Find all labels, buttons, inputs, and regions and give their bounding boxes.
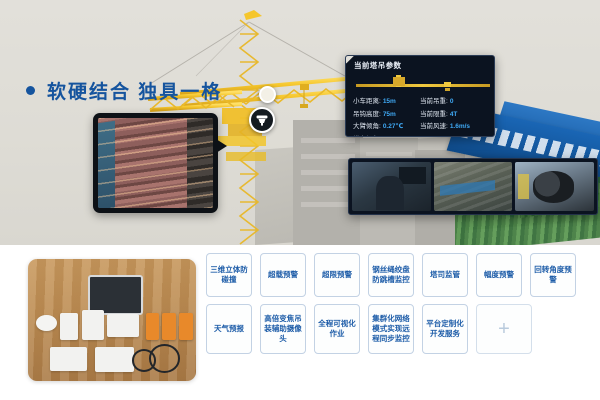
param-value: 4T [450,111,458,118]
param-label: 当前吊重: [420,95,448,105]
slide-root: 软硬结合 独具一格 当前塔吊参数 小车距离: 15m [0,0,600,400]
param-rows: 小车距离: 15m 当前吊重: 0 吊钩高度: 75m 当前限重: 4T 大臂倾… [346,95,494,137]
tag-3d-anticollision[interactable]: 三维立体防碰撞 [206,253,252,297]
crane-parameter-panel: 当前塔吊参数 小车距离: 15m 当前吊重: 0 吊钩高度: 75m [345,55,495,137]
aerial-image [98,118,213,208]
param-label: 大臂倾角: [353,120,381,130]
cctv-camera-icon [256,115,268,126]
site-aerial-screenshot[interactable] [93,113,218,213]
sensor-clamp-2 [162,313,175,340]
tag-cluster-remote-monitor[interactable]: 集群化网络模式实现远程同步监控 [368,304,414,354]
tag-overload-alarm[interactable]: 超载预警 [260,253,306,297]
param-row: 小车距离: 15m [353,95,420,105]
tag-weather-forecast[interactable]: 天气预报 [206,304,252,354]
param-row: 塔身倾角: 62.12℃ [353,133,420,138]
param-value: 0.27℃ [383,122,404,130]
tag-add-more-icon[interactable]: + [476,304,532,354]
feature-tag-row-2: 天气预报 高倍变焦吊装辅助摄像头 全程可视化作业 集群化网络模式实现远程同步监控… [206,304,596,354]
param-label: 吊钩高度: [353,108,381,118]
tag-full-visual-operation[interactable]: 全程可视化作业 [314,304,360,354]
device-box-3 [50,347,87,371]
tag-operator-supervision[interactable]: 塔司监管 [422,253,468,297]
device-box-1 [60,313,78,340]
param-value: 15m [383,98,396,105]
feed-aerial-site[interactable] [434,162,513,211]
device-box-4 [95,347,134,373]
param-value: 0 [450,98,454,105]
param-row: 大臂倾角: 0.27℃ [353,120,420,130]
tag-wirerope-winch-monitor[interactable]: 钢丝绳绞盘防跳槽监控 [368,253,414,297]
headline-text: 软硬结合 独具一格 [47,77,222,104]
param-value: 75m [383,111,396,118]
hardware-kit-photo [28,259,196,381]
crane-schematic-icon [352,74,488,94]
tag-overlimit-alarm[interactable]: 超限预警 [314,253,360,297]
tag-radius-alarm[interactable]: 幅度预警 [476,253,522,297]
section-bottom: 三维立体防碰撞 超载预警 超限预警 钢丝绳绞盘防跳槽监控 塔司监管 幅度预警 回… [0,245,600,400]
device-box-2 [82,310,104,339]
bullet-dot-icon [26,86,35,95]
param-label: 小车距离: [353,95,381,105]
feature-tag-row-1: 三维立体防碰撞 超载预警 超限预警 钢丝绳绞盘防跳槽监控 塔司监管 幅度预警 回… [206,253,596,297]
tag-zoom-camera[interactable]: 高倍变焦吊装辅助摄像头 [260,304,306,354]
camera-feed-strip [348,158,598,215]
headline: 软硬结合 独具一格 [26,77,222,104]
param-label: 塔身倾角: [353,133,381,138]
feed-operator-cabin[interactable] [352,162,431,211]
param-row: 当前限重: 4T [420,108,487,118]
sensor-clamp-3 [179,313,192,340]
controller-unit [107,314,139,337]
feature-tag-grid: 三维立体防碰撞 超载预警 超限预警 钢丝绳绞盘防跳槽监控 塔司监管 幅度预警 回… [206,253,596,361]
sensor-clamp-1 [146,313,159,340]
cable-coil-2 [132,349,156,371]
param-row: 当前吊重: 0 [420,95,487,105]
camera-marker-mast[interactable] [249,107,275,133]
feed-winch-drum[interactable] [515,162,594,211]
param-value: 1.6m/s [450,123,470,130]
callout-tail [216,139,227,153]
param-label: 当前限重: [420,108,448,118]
tag-custom-platform-dev[interactable]: 平台定制化开发服务 [422,304,468,354]
param-row: 当前风速: 1.6m/s [420,120,487,130]
scene-top: 软硬结合 独具一格 当前塔吊参数 小车距离: 15m [0,0,600,245]
tag-slew-angle-alarm[interactable]: 回转角度预警 [530,253,576,297]
camera-marker-jib[interactable] [259,86,276,103]
param-value: 62.12℃ [383,135,407,138]
param-row: 吊钩高度: 75m [353,108,420,118]
param-panel-title: 当前塔吊参数 [354,60,494,71]
aerial-highlights [98,118,213,208]
param-label: 当前风速: [420,120,448,130]
dome-camera [36,315,56,331]
